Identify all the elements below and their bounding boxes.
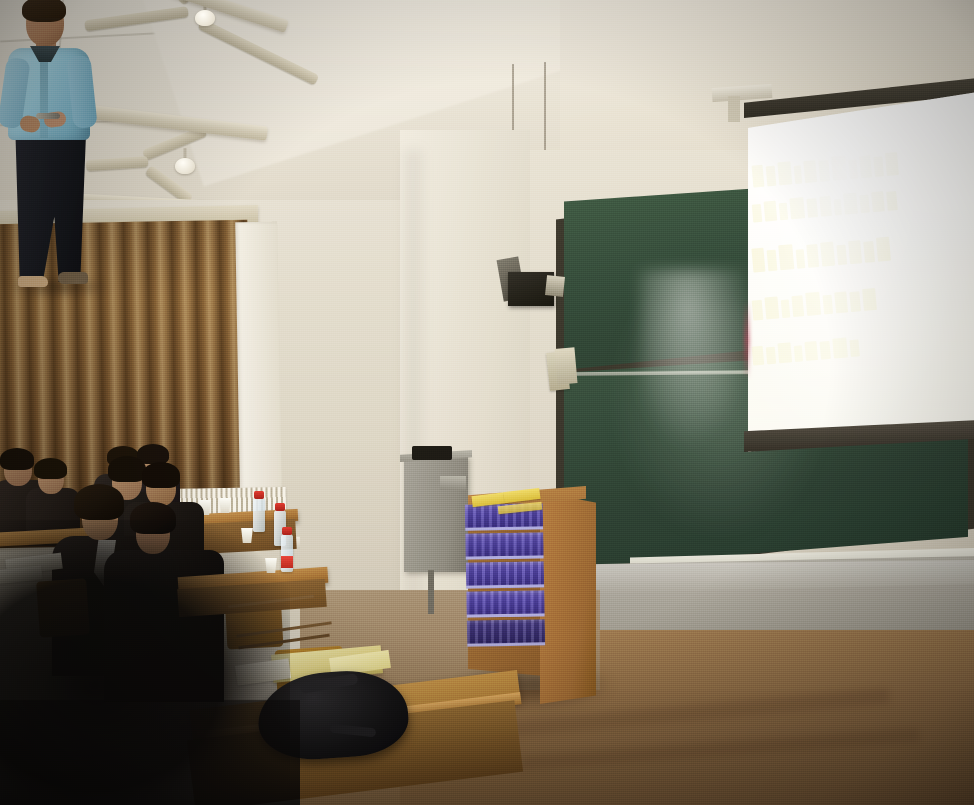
- lectern-side: [540, 492, 596, 704]
- fan-hub: [175, 158, 195, 174]
- projection-screen[interactable]: [748, 92, 974, 452]
- equipment-stand-leg: [428, 570, 434, 614]
- glasses-icon: [30, 18, 60, 25]
- speaker-bracket-arm: [545, 275, 565, 297]
- screen-edge-fringe: [744, 300, 750, 380]
- ceiling-fan-rear: [120, 0, 290, 60]
- ceiling-fan-front: [110, 148, 260, 198]
- classroom-photo: [0, 0, 974, 805]
- equipment-stand: [404, 456, 468, 572]
- organizer-pocket: [466, 590, 544, 617]
- foreground-shadow-lower: [0, 700, 300, 805]
- fan-hub: [195, 10, 215, 26]
- presenter-shoe: [18, 276, 48, 287]
- equipment-stand-object: [412, 446, 452, 460]
- organizer-pocket: [465, 532, 543, 559]
- person-hair: [34, 458, 67, 479]
- bottle-cap: [275, 503, 285, 511]
- wall-notice-box: [554, 347, 577, 385]
- screen-bracket-arm: [728, 96, 740, 122]
- screen-overexposure: [748, 92, 974, 452]
- presenter-shoe: [58, 272, 88, 284]
- organizer-pocket: [466, 561, 544, 588]
- blackboard-glare: [640, 270, 760, 460]
- bottle-cap: [254, 491, 264, 499]
- equipment-stand-shelf: [440, 476, 466, 490]
- pocket-organizer[interactable]: [465, 495, 546, 656]
- presenter-clicker: [36, 113, 60, 119]
- organizer-pocket: [467, 619, 545, 646]
